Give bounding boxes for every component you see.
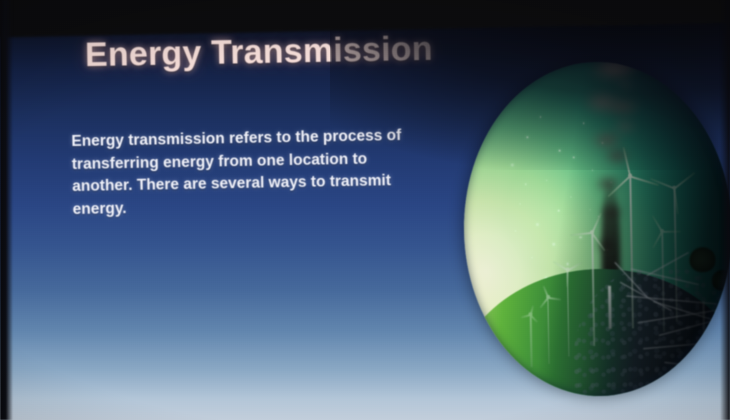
screen-bezel-right [720,0,730,420]
image-dark-right-overlay [461,60,730,399]
slide-body-text: Energy transmission refers to the proces… [71,125,403,221]
screen-bezel-left [0,0,13,420]
split-landscape-image [461,60,730,399]
page-title: Energy Transmission [85,30,433,75]
slide-photo: Energy Transmission Energy transmission … [0,0,730,420]
